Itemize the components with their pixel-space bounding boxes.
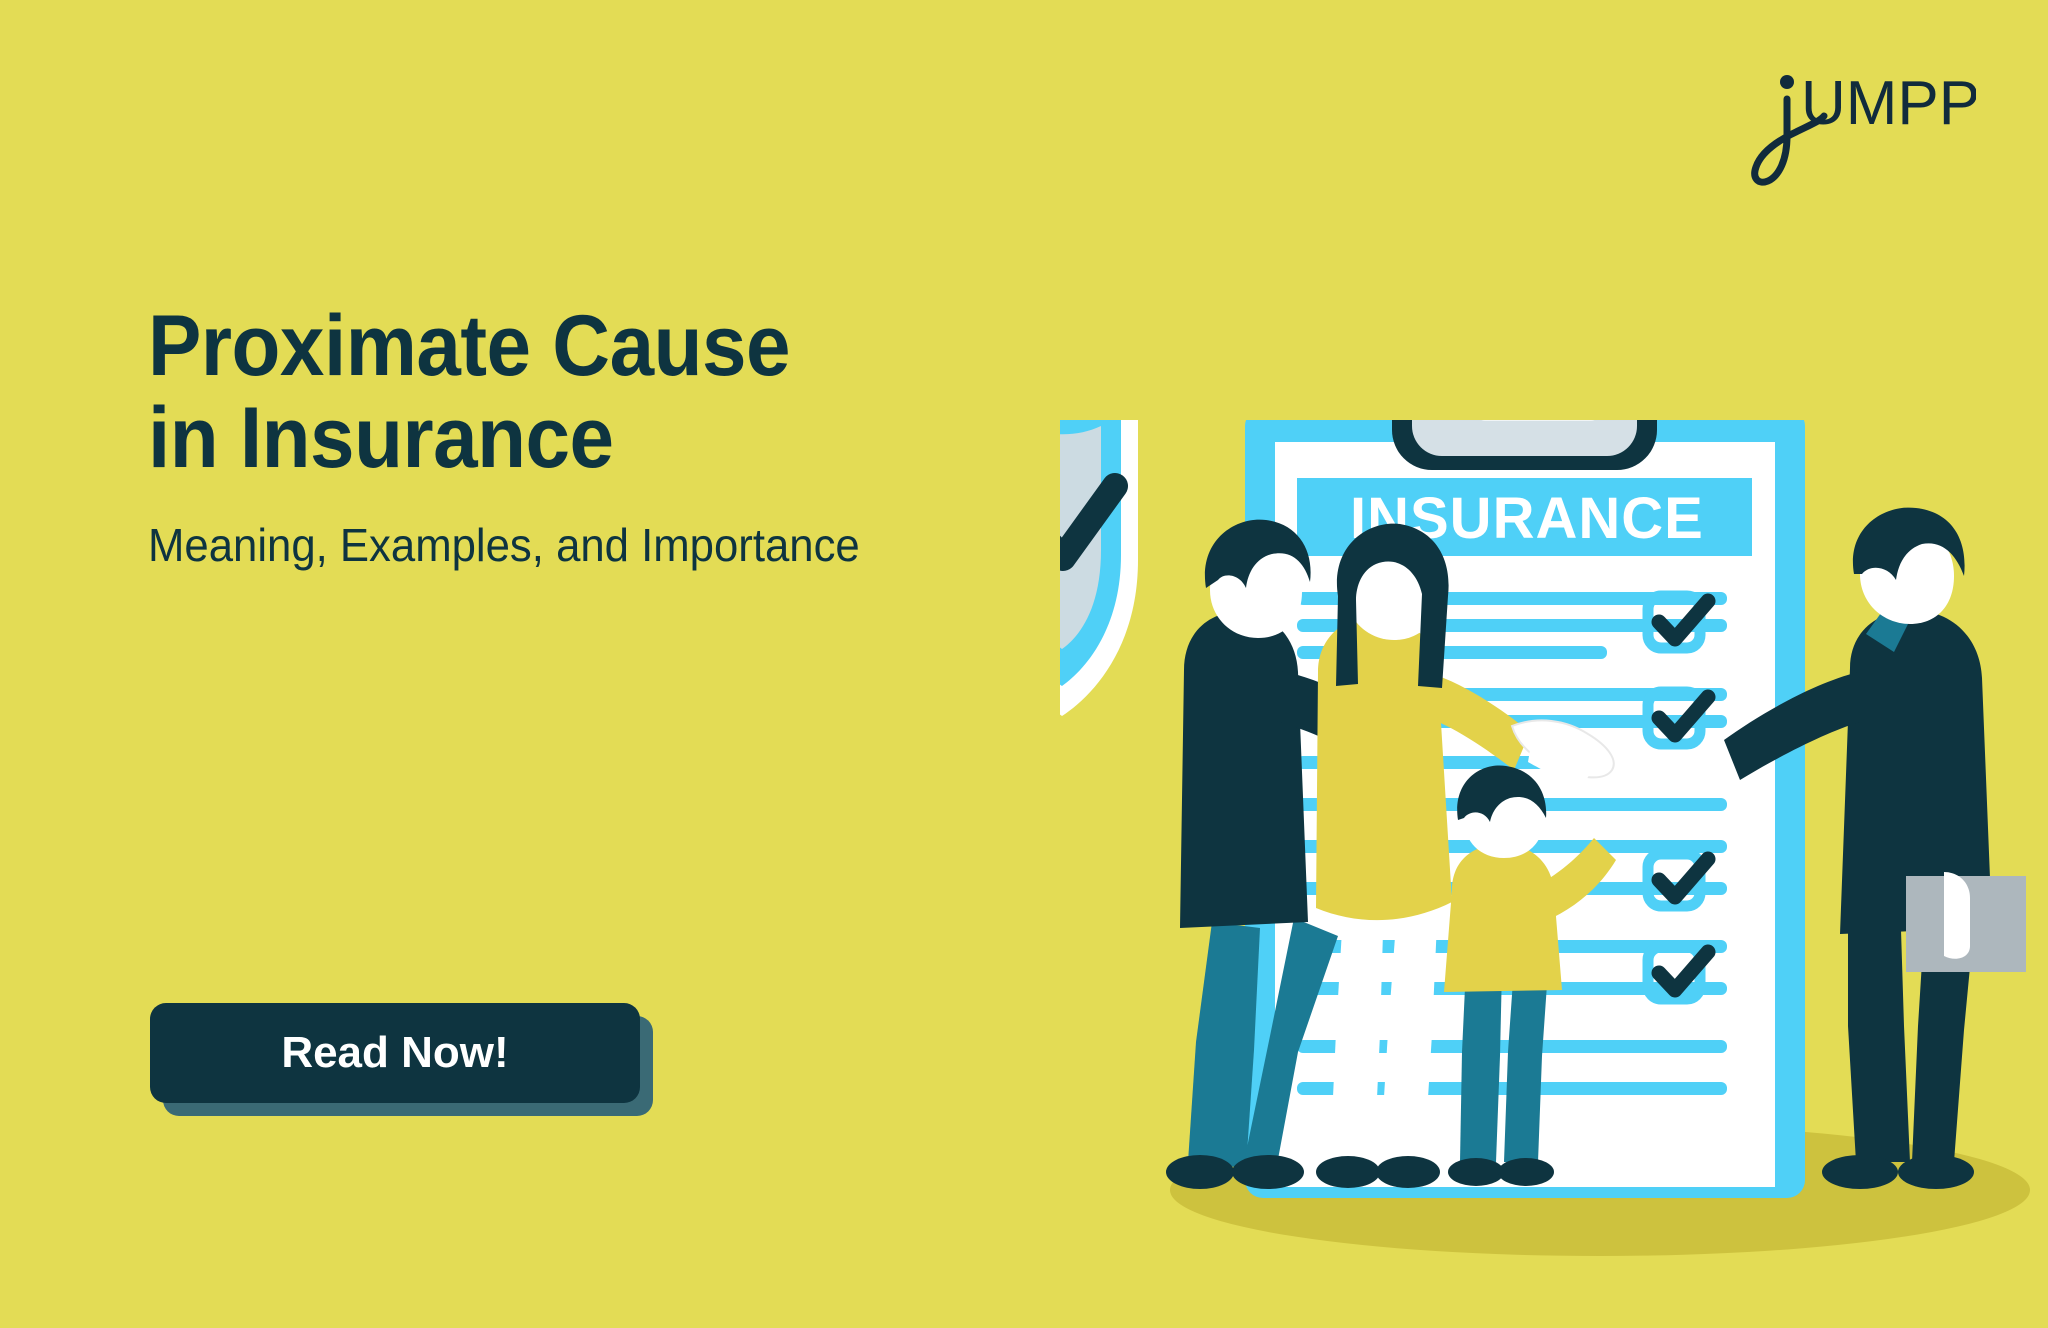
father-shoe-back — [1166, 1155, 1234, 1189]
promo-banner: UMPP jUMPP Proximate Cause in Insurance … — [0, 0, 2048, 1328]
child-shoe-front — [1498, 1158, 1554, 1186]
agent-shoe-front — [1898, 1155, 1974, 1189]
logo-text: jUMPP — [1976, 52, 1977, 53]
mother-shoe-back — [1316, 1156, 1380, 1188]
svg-text:UMPP: UMPP — [1801, 69, 1976, 138]
read-now-button[interactable]: Read Now! — [150, 1003, 640, 1103]
agent-shoe-back — [1822, 1155, 1898, 1189]
jumpp-logo[interactable]: UMPP jUMPP — [1746, 52, 1976, 192]
cta-container: Read Now! — [150, 1003, 640, 1103]
mother-shoe-front — [1376, 1156, 1440, 1188]
clipboard-clip — [1392, 420, 1657, 470]
logo-dot-icon — [1780, 75, 1794, 89]
page-title: Proximate Cause in Insurance — [148, 300, 1041, 484]
hero-text-block: Proximate Cause in Insurance Meaning, Ex… — [148, 300, 1108, 572]
agent-leg-back — [1848, 898, 1910, 1162]
insurance-illustration: INSURANCE — [1060, 420, 2040, 1320]
father-torso — [1180, 612, 1308, 928]
shield-check-icon — [1060, 420, 1138, 716]
child-leg-back — [1460, 966, 1502, 1162]
page-subtitle: Meaning, Examples, and Importance — [148, 518, 1060, 572]
child-shoe-back — [1448, 1158, 1504, 1186]
father-shoe-front — [1232, 1155, 1304, 1189]
